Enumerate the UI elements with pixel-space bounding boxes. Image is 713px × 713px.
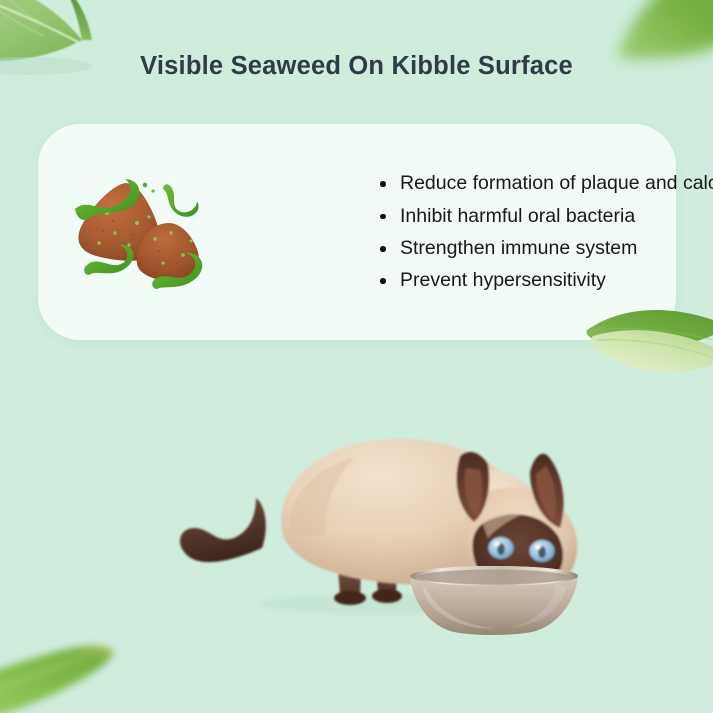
- list-item: Inhibit harmful oral bacteria: [400, 200, 713, 232]
- page-title: Visible Seaweed On Kibble Surface: [0, 52, 713, 81]
- siamese-cat-eating-from-bowl-photo: [130, 352, 600, 652]
- list-item: Strengthen immune system: [400, 232, 713, 264]
- food-bowl-image: [406, 564, 582, 636]
- leaf-bottom-left-icon: [0, 623, 118, 713]
- benefits-list: Reduce formation of plaque and calculus …: [238, 167, 713, 297]
- seaweed-coated-kibble-image: [63, 171, 213, 301]
- list-item: Reduce formation of plaque and calculus: [400, 167, 713, 199]
- kibble-image-container: [38, 124, 238, 340]
- poster-canvas: Visible Seaweed On Kibble Surface: [0, 0, 713, 713]
